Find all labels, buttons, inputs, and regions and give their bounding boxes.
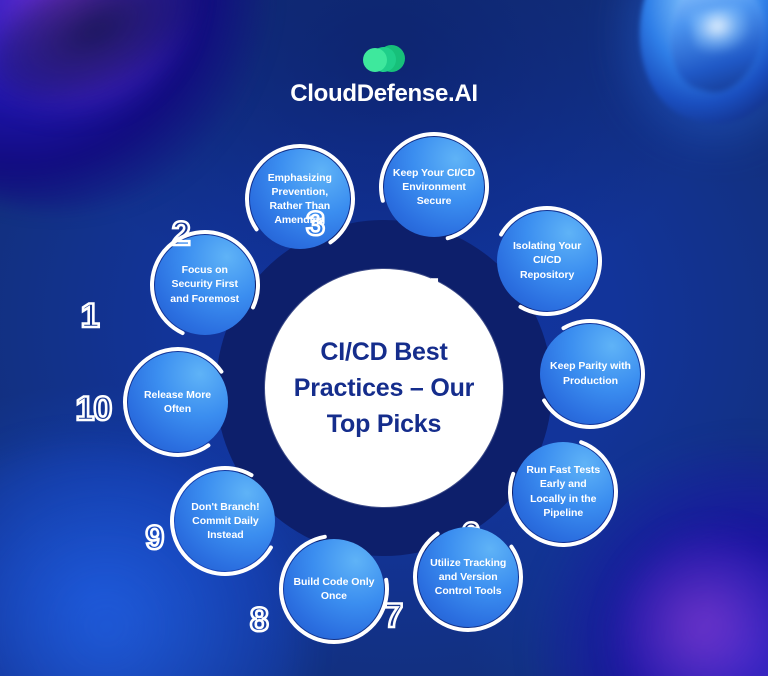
practice-bubble[interactable]: Keep Your CI/CD Environment Secure	[384, 137, 484, 237]
brand-logo: CloudDefense.AI	[0, 44, 768, 108]
practice-number: 2	[172, 217, 190, 251]
practice-bubble[interactable]: Keep Parity with Production	[540, 324, 640, 424]
practice-label: Run Fast Tests Early and Locally in the …	[513, 463, 613, 520]
practice-label: Don't Branch! Commit Daily Instead	[175, 500, 275, 543]
practice-label: Utilize Tracking and Version Control Too…	[418, 556, 518, 599]
practice-label: Release More Often	[128, 388, 228, 416]
cloud-logo-icon-front	[363, 48, 387, 72]
practice-node[interactable]: Isolating Your CI/CD Repository4	[497, 211, 597, 311]
practice-bubble[interactable]: Release More Often	[128, 352, 228, 452]
practice-label: Keep Parity with Production	[540, 359, 640, 387]
practice-label: Focus on Security First and Foremost	[155, 263, 255, 306]
practice-bubble[interactable]: Utilize Tracking and Version Control Too…	[418, 527, 518, 627]
practice-bubble[interactable]: Focus on Security First and Foremost	[155, 235, 255, 335]
practice-number: 1	[81, 299, 99, 333]
practice-node[interactable]: Utilize Tracking and Version Control Too…	[418, 527, 518, 627]
practice-number: 8	[250, 603, 268, 637]
practice-node[interactable]: Release More Often10	[128, 352, 228, 452]
practice-number: 4	[421, 275, 439, 309]
practices-wheel: CI/CD Best Practices – Our Top Picks Foc…	[124, 128, 644, 648]
practice-node[interactable]: Emphasizing Prevention, Rather Than Amen…	[250, 149, 350, 249]
practice-node[interactable]: Keep Parity with Production5	[540, 324, 640, 424]
brand-name: CloudDefense.AI	[290, 80, 478, 108]
practice-bubble[interactable]: Isolating Your CI/CD Repository	[497, 211, 597, 311]
practice-number: 10	[76, 392, 112, 426]
practice-label: Emphasizing Prevention, Rather Than Amen…	[250, 171, 350, 228]
practice-node[interactable]: Run Fast Tests Early and Locally in the …	[513, 442, 613, 542]
practice-node[interactable]: Focus on Security First and Foremost1	[155, 235, 255, 335]
practice-label: Keep Your CI/CD Environment Secure	[384, 166, 484, 209]
wheel-center: CI/CD Best Practices – Our Top Picks	[265, 269, 503, 507]
practice-bubble[interactable]: Emphasizing Prevention, Rather Than Amen…	[250, 149, 350, 249]
practice-node[interactable]: Keep Your CI/CD Environment Secure3	[384, 137, 484, 237]
practice-node[interactable]: Don't Branch! Commit Daily Instead9	[175, 471, 275, 571]
page-title: CI/CD Best Practices – Our Top Picks	[265, 334, 503, 443]
practice-node[interactable]: Build Code Only Once8	[284, 539, 384, 639]
practice-number: 5	[478, 398, 496, 432]
practice-label: Isolating Your CI/CD Repository	[497, 239, 597, 282]
practice-bubble[interactable]: Build Code Only Once	[284, 539, 384, 639]
practice-bubble[interactable]: Run Fast Tests Early and Locally in the …	[513, 442, 613, 542]
practice-number: 9	[145, 521, 163, 555]
practice-label: Build Code Only Once	[284, 575, 384, 603]
practice-number: 3	[306, 207, 324, 241]
infographic-canvas: CloudDefense.AI CI/CD Best Practices – O…	[0, 0, 768, 676]
cloud-logo-icon	[361, 44, 407, 74]
practice-bubble[interactable]: Don't Branch! Commit Daily Instead	[175, 471, 275, 571]
